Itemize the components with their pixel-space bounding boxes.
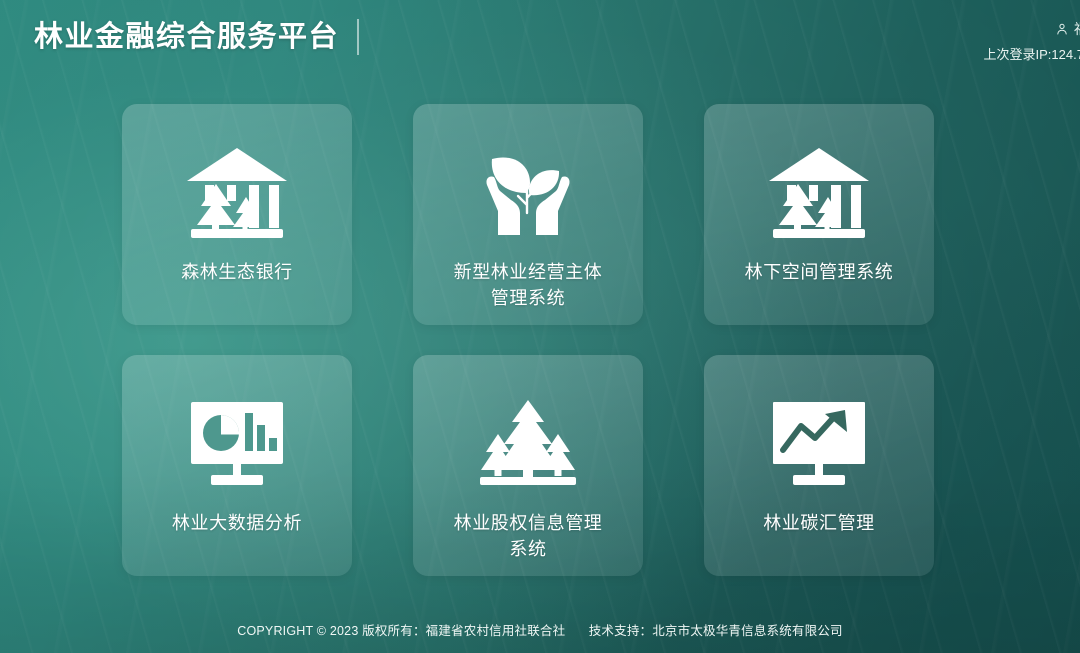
brand: 林业金融综合服务平台	[34, 19, 359, 55]
bank-trees-icon	[763, 140, 875, 244]
card-forestry-carbon-sink[interactable]: 林业碳汇管理	[704, 355, 934, 576]
card-label: 新型林业经营主体 管理系统	[433, 260, 623, 311]
footer-tech-support: 技术支持：北京市太极华青信息系统有限公司	[589, 624, 843, 638]
footer-copyright: COPYRIGHT © 2023 版权所有：福建省农村信用社联合社	[237, 624, 565, 638]
page-header: 林业金融综合服务平台 福 上次登录IP:124.72.2	[0, 0, 1080, 92]
card-forestry-big-data[interactable]: 林业大数据分析	[122, 355, 352, 576]
card-label: 林业股权信息管理 系统	[433, 511, 623, 562]
page-footer: COPYRIGHT © 2023 版权所有：福建省农村信用社联合社 技术支持：北…	[0, 620, 1080, 639]
page-root: 林业金融综合服务平台 福 上次登录IP:124.72.2	[0, 0, 1080, 653]
pine-trees-icon	[472, 391, 584, 495]
last-login-ip: 上次登录IP:124.72.2	[984, 48, 1080, 61]
bank-trees-icon	[181, 140, 293, 244]
user-info: 福 上次登录IP:124.72.2	[984, 22, 1080, 61]
card-forestry-equity-info[interactable]: 林业股权信息管理 系统	[413, 355, 643, 576]
card-forest-eco-bank[interactable]: 森林生态银行	[122, 104, 352, 325]
user-name: 福	[1074, 22, 1080, 36]
monitor-charts-icon	[181, 391, 293, 495]
brand-divider	[357, 19, 359, 55]
card-label: 森林生态银行	[142, 260, 332, 286]
user-account[interactable]: 福	[984, 22, 1080, 36]
card-new-forestry-entity[interactable]: 新型林业经营主体 管理系统	[413, 104, 643, 325]
hands-leaves-icon	[472, 140, 584, 244]
user-icon	[1055, 22, 1069, 36]
card-label: 林下空间管理系统	[724, 260, 914, 286]
module-grid: 森林生态银行 新型林业经营主体 管理系统	[122, 104, 933, 576]
card-label: 林业碳汇管理	[724, 511, 914, 537]
page-title: 林业金融综合服务平台	[34, 23, 339, 52]
card-label: 林业大数据分析	[142, 511, 332, 537]
card-understory-space[interactable]: 林下空间管理系统	[704, 104, 934, 325]
monitor-trend-icon	[763, 391, 875, 495]
